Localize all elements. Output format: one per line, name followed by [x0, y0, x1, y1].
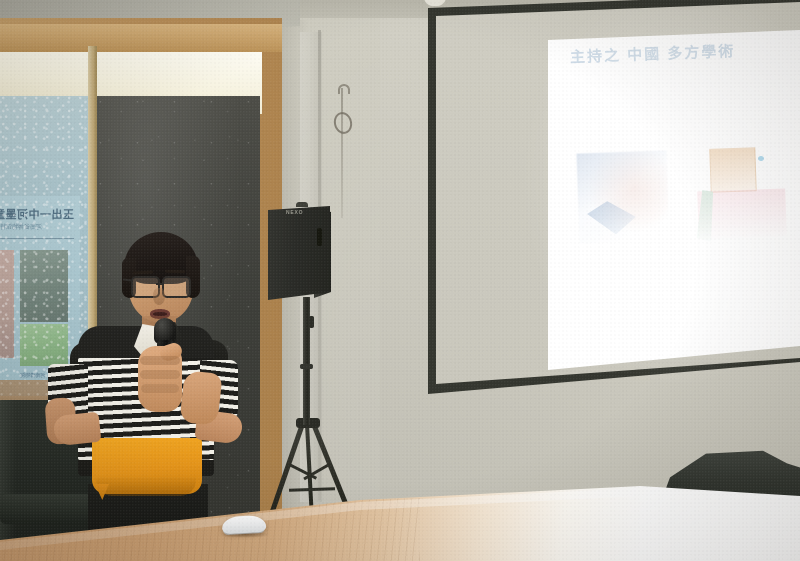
presenter-finger-index — [140, 356, 180, 365]
slide-photo-left — [576, 150, 669, 243]
presenter-nose — [153, 288, 165, 305]
presenter-waistband-fold — [96, 476, 196, 496]
pa-speaker-cabinet — [268, 206, 330, 300]
wall-hook-cord — [341, 88, 343, 218]
presenter-finger-ring — [141, 384, 179, 393]
projected-slide: 主持之 中國 多方學術 — [548, 30, 800, 370]
door-frame-top-rail — [0, 24, 282, 52]
tripod-height-collar — [300, 364, 313, 369]
slide-accent-dot — [758, 156, 764, 161]
presenter-eyebrow-right — [165, 270, 185, 274]
eyeglasses-bridge — [156, 283, 164, 285]
slide-photo-right-frame — [709, 147, 757, 193]
pa-speaker-port — [317, 228, 322, 246]
chair-back-left-edge — [0, 400, 16, 550]
eyeglasses-lens-right — [162, 276, 191, 298]
presentation-photo-scene: 玉出一中河墨童悦 河南省博物馆特展介绍 主办单位 · 河南博物院 ✼ 主持之 中… — [0, 0, 800, 561]
pa-speaker-brand-label: NEXO — [286, 210, 303, 216]
tripod-adjust-knob — [309, 316, 314, 328]
slide-title-text: 主持之 中國 多方學術 — [570, 38, 800, 67]
presenter-forearm-left — [53, 412, 102, 447]
wall-hook-hanger-icon — [338, 84, 350, 94]
pa-speaker-handle — [296, 202, 308, 207]
presenter-finger-middle — [140, 370, 180, 379]
